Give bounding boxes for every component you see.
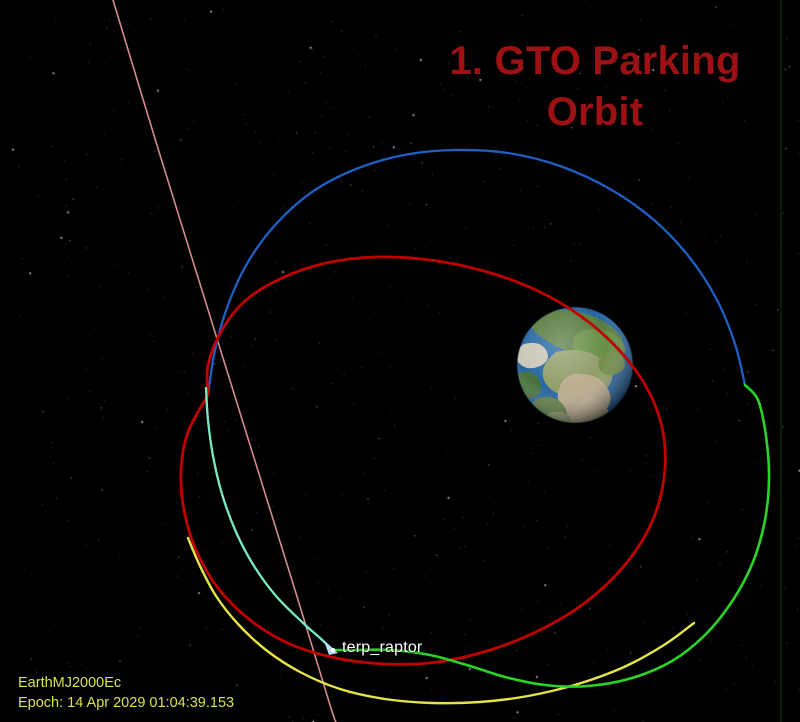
spacecraft-markers[interactable] <box>324 641 338 655</box>
orbit-curve-pink-line <box>113 0 336 722</box>
orbit-view-viewport[interactable]: 1. GTO Parking Orbit terp_raptor EarthMJ… <box>0 0 800 722</box>
spacecraft-marker[interactable] <box>324 641 338 655</box>
trajectory-curves <box>113 0 769 722</box>
spacecraft-body-icon <box>324 641 338 655</box>
orbit-curve-yellow-arc <box>188 538 694 703</box>
orbit-curve-green-outer-arc <box>333 385 769 687</box>
orbit-trajectory-layer <box>0 0 800 722</box>
orbit-curve-blue-apogee-arc <box>208 150 745 395</box>
earth-shading-overlay <box>517 307 633 423</box>
spacecraft-center-dot <box>331 648 335 652</box>
orbit-curve-cyan-inner-arc <box>206 388 333 650</box>
earth-globe <box>513 307 633 437</box>
